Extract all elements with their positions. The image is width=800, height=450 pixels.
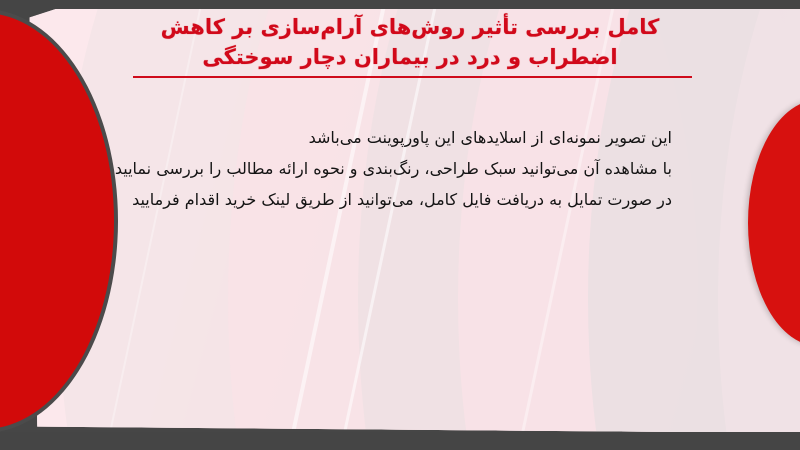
slide-title-line-2: اضطراب و درد در بیماران دچار سوختگی <box>120 42 700 72</box>
body-line-2: با مشاهده آن می‌توانید سبک طراحی، رنگ‌بن… <box>72 153 672 184</box>
presentation-slide: کامل بررسی تأثیر روش‌های آرام‌سازی بر کا… <box>0 0 800 450</box>
slide-frame-top <box>0 0 800 10</box>
body-line-1: این تصویر نمونه‌ای از اسلایدهای این پاور… <box>72 122 672 153</box>
background-band <box>228 9 800 433</box>
background-band <box>358 9 800 433</box>
background-highlight-streak <box>494 9 626 433</box>
background-band <box>28 9 698 433</box>
slide-body-text: این تصویر نمونه‌ای از اسلایدهای این پاور… <box>72 122 672 215</box>
slide-title: کامل بررسی تأثیر روش‌های آرام‌سازی بر کا… <box>120 12 700 72</box>
slide-background-panel <box>28 9 800 433</box>
background-highlight-streak <box>316 9 448 433</box>
slide-frame-bottom <box>0 432 800 450</box>
title-underline-rule <box>133 76 692 78</box>
body-line-3: در صورت تمایل به دریافت فایل کامل، می‌تو… <box>72 184 672 215</box>
background-band <box>58 9 800 433</box>
slide-title-line-1: کامل بررسی تأثیر روش‌های آرام‌سازی بر کا… <box>120 12 700 42</box>
background-highlight-streak <box>264 9 397 433</box>
